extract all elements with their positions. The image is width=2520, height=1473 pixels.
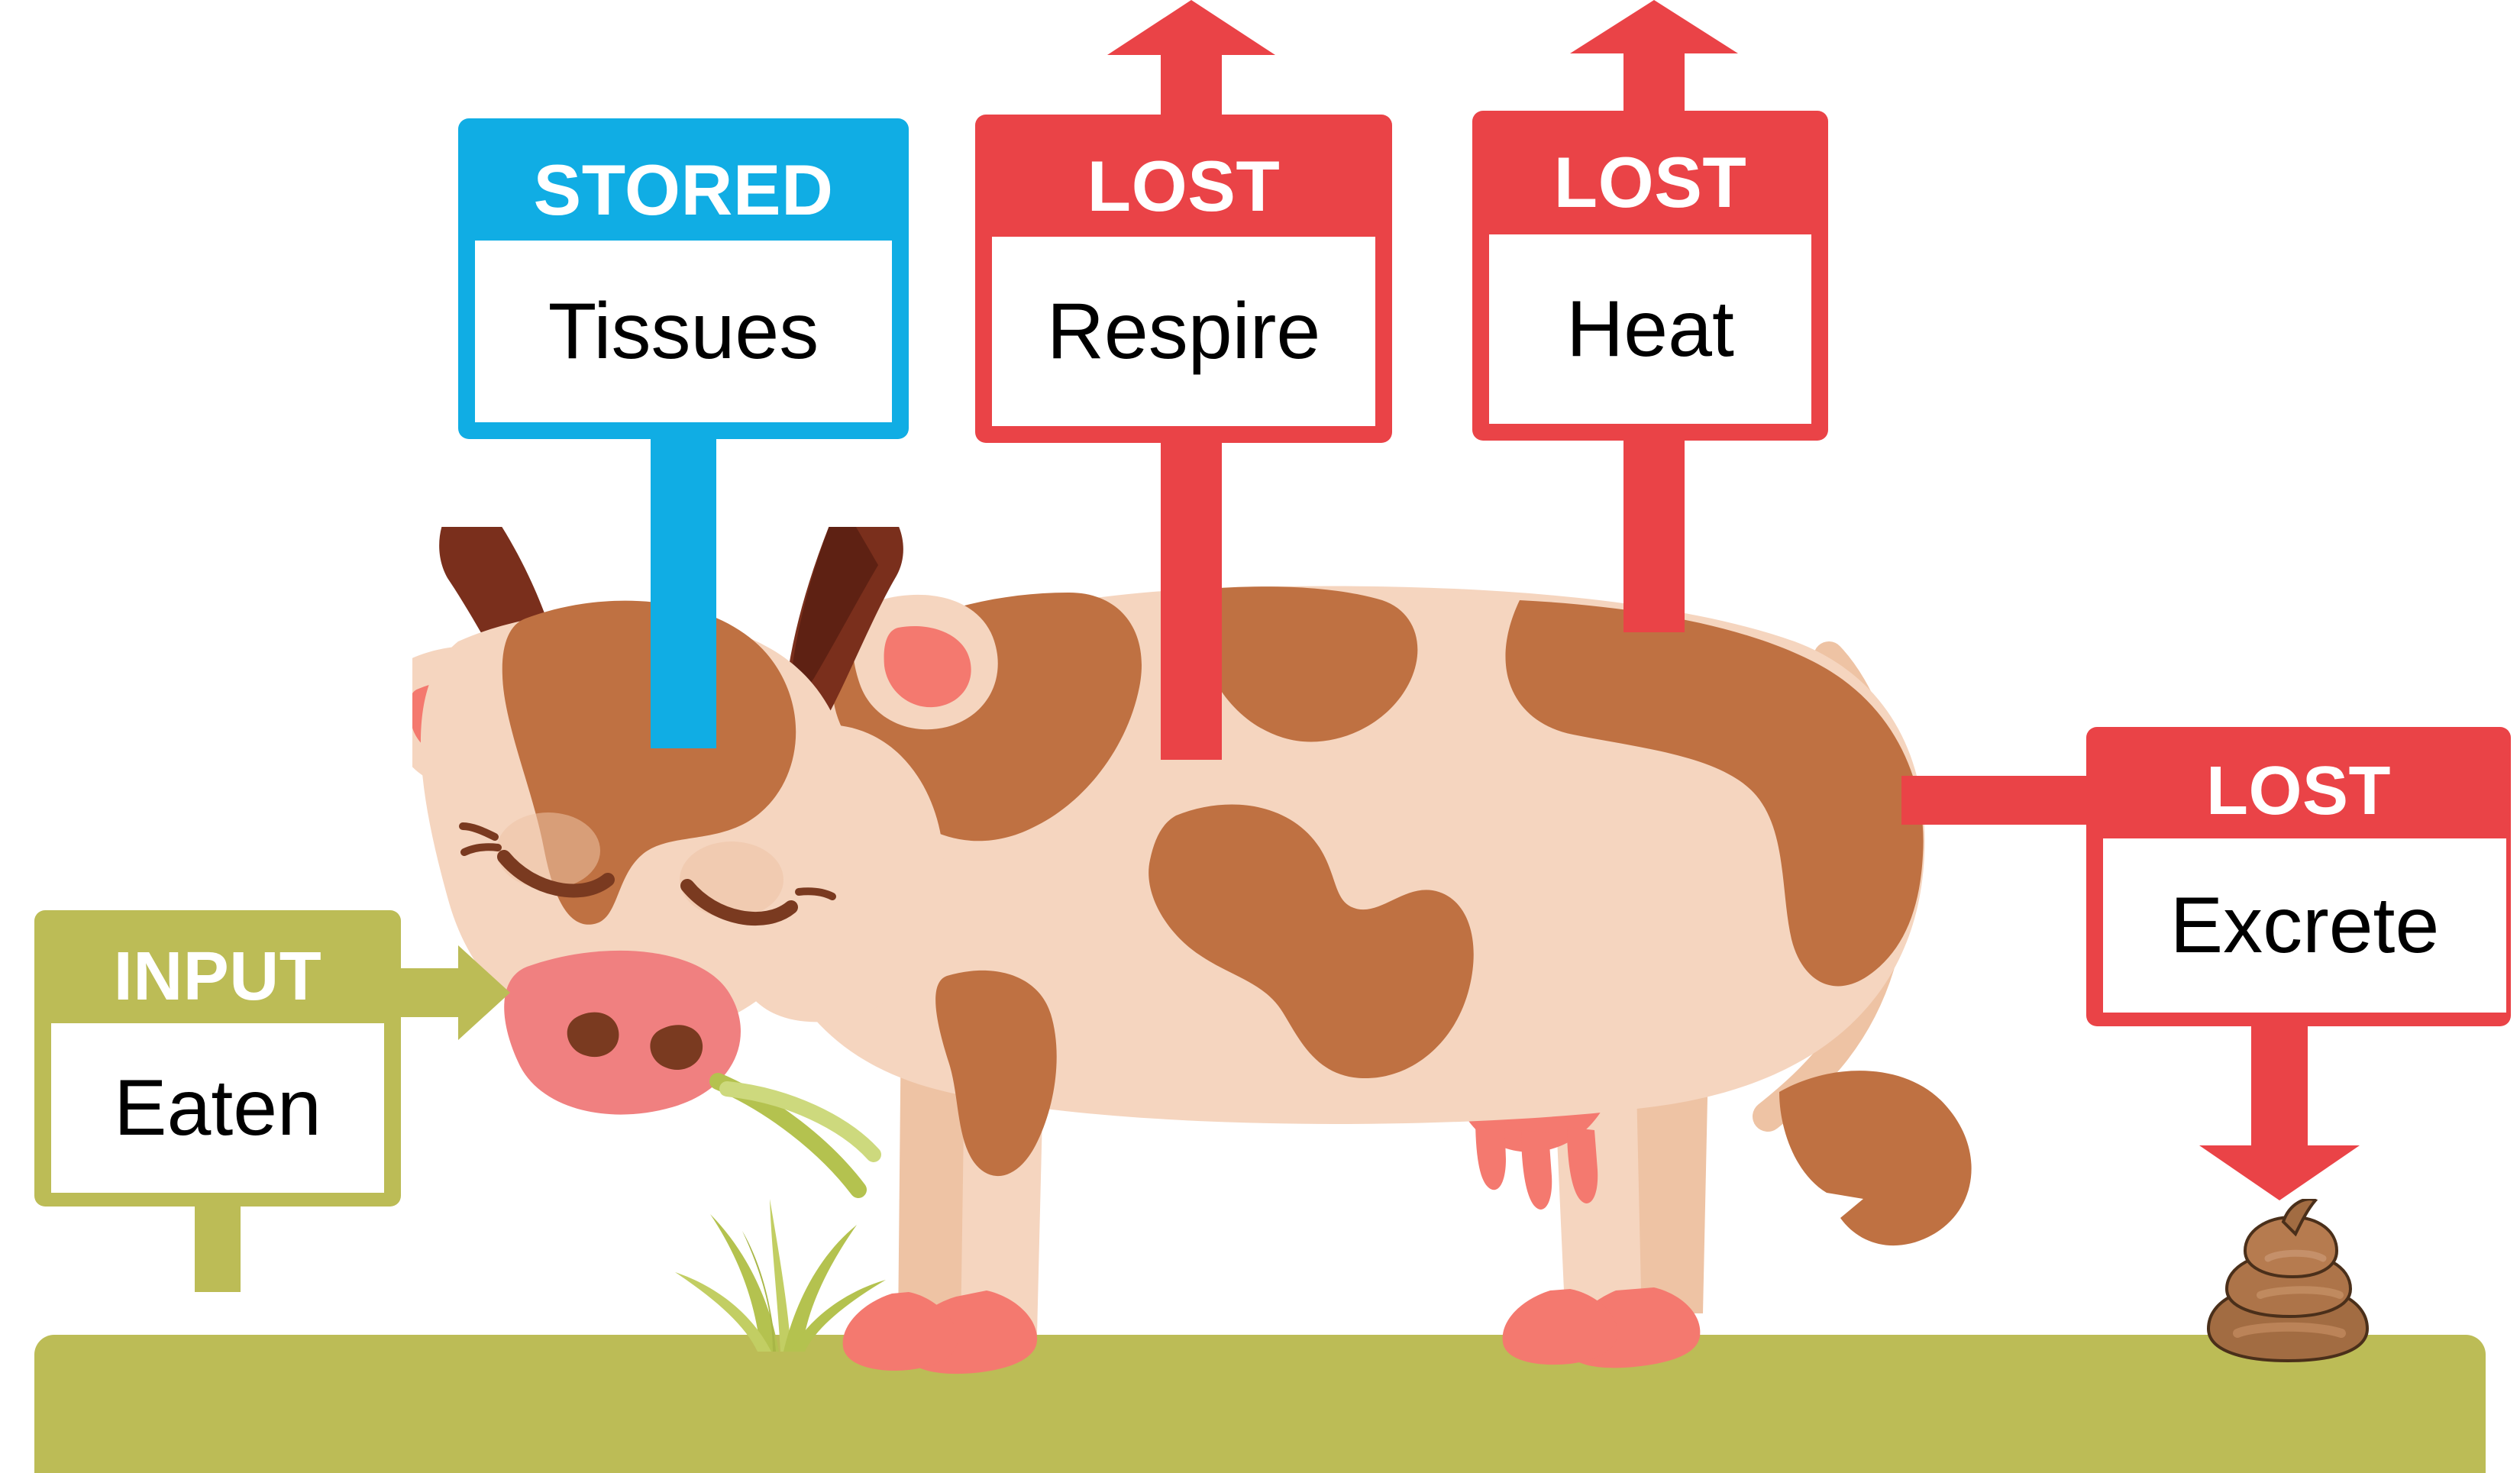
sign-post-heat (1623, 428, 1685, 632)
grass-tuft (657, 1199, 909, 1352)
sign-value-label-excrete: Excrete (2103, 838, 2506, 1013)
arrow-right-icon-input (458, 945, 510, 1040)
sign-value-label-stored: Tissues (475, 241, 892, 422)
sign-value-label-input: Eaten (51, 1023, 384, 1193)
sign-input-eaten[interactable]: INPUT Eaten (34, 910, 401, 1207)
sign-post-stored (651, 428, 716, 748)
sign-cap-label-input: INPUT (34, 910, 401, 1025)
sign-stored-tissues[interactable]: STORED Tissues (458, 118, 909, 439)
sign-cap-label-heat: LOST (1472, 111, 1828, 234)
sign-post-respire (1161, 431, 1222, 760)
sign-lost-excrete[interactable]: LOST Excrete (2086, 727, 2511, 1026)
sign-value-label-heat: Heat (1489, 234, 1811, 424)
sign-lost-respire[interactable]: LOST Respire (975, 115, 1392, 443)
arrow-down-icon-excrete (2199, 1145, 2360, 1200)
sign-cap-label-stored: STORED (458, 118, 909, 241)
diagram-canvas: STORED Tissues LOST Respire LOST Heat LO… (0, 0, 2520, 1473)
sign-cap-label-respire: LOST (975, 115, 1392, 237)
sign-post-excrete (2251, 1023, 2308, 1153)
sign-post-input (195, 1200, 241, 1292)
sign-value-label-respire: Respire (992, 237, 1375, 426)
sign-cap-label-excrete: LOST (2086, 727, 2511, 838)
sign-lead-excrete (1901, 776, 2092, 825)
dung-pile (2192, 1199, 2383, 1363)
sign-lost-heat[interactable]: LOST Heat (1472, 111, 1828, 441)
sign-lead-input (393, 968, 461, 1017)
